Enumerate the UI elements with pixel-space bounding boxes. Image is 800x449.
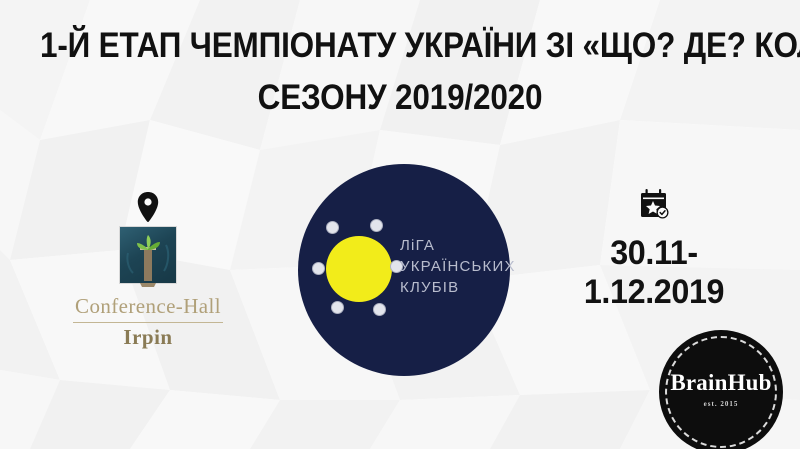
venue-divider <box>73 322 223 323</box>
event-date-block: 30.11-1.12.2019 <box>538 188 770 312</box>
sun-ray-dot <box>331 301 344 314</box>
brainhub-badge: BrainHub est. 2015 <box>659 330 783 449</box>
league-text-line-2: УКРАЇНСЬКИХ <box>400 256 506 277</box>
calendar-star-check-icon <box>637 188 671 222</box>
sun-ray-dot <box>370 219 383 232</box>
venue-name: Conference-Hall <box>48 294 248 319</box>
poster-headline: 1-Й ЕТАП ЧЕМПІОНАТУ УКРАЇНИ ЗІ «ЩО? ДЕ? … <box>0 24 800 120</box>
headline-line-2: СЕЗОНУ 2019/2020 <box>40 76 760 120</box>
league-logo-text: ЛіГА УКРАЇНСЬКИХ КЛУБІВ <box>400 235 506 298</box>
sun-ray-dot <box>312 262 325 275</box>
venue-city: Irpin <box>48 325 248 350</box>
sun-icon <box>326 236 392 302</box>
venue-block: Conference-Hall Irpin <box>48 192 248 350</box>
brainhub-established: est. 2015 <box>659 400 783 408</box>
brainhub-name: BrainHub <box>659 370 783 396</box>
sun-ray-dot <box>373 303 386 316</box>
event-poster: 1-Й ЕТАП ЧЕМПІОНАТУ УКРАЇНИ ЗІ «ЩО? ДЕ? … <box>0 0 800 449</box>
league-text-line-1: ЛіГА <box>400 235 506 256</box>
headline-line-1: 1-Й ЕТАП ЧЕМПІОНАТУ УКРАЇНИ ЗІ «ЩО? ДЕ? … <box>40 24 760 68</box>
venue-logo-image <box>119 226 177 284</box>
sun-ray-dot <box>326 221 339 234</box>
event-date-text: 30.11-1.12.2019 <box>544 234 764 312</box>
location-pin-icon <box>137 192 159 222</box>
league-logo: ЛіГА УКРАЇНСЬКИХ КЛУБІВ <box>298 164 510 376</box>
tree-column-icon <box>120 227 176 291</box>
league-text-line-3: КЛУБІВ <box>400 277 506 298</box>
